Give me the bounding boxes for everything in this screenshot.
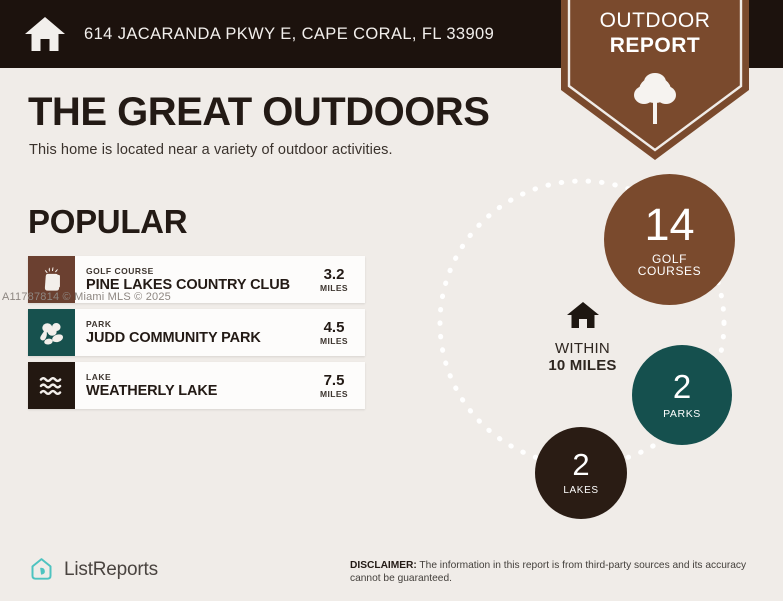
distance-value: 4.5 — [324, 320, 345, 336]
list-item-category: GOLF COURSE — [86, 266, 309, 277]
badge-title-line2: REPORT — [561, 33, 749, 58]
list-item-category: PARK — [86, 319, 309, 330]
list-item-body: GOLF COURSE PINE LAKES COUNTRY CLUB — [75, 256, 309, 303]
list-item-name: PINE LAKES COUNTRY CLUB — [86, 277, 309, 294]
listreports-house-icon — [28, 556, 55, 583]
distance-value: 3.2 — [324, 267, 345, 283]
home-icon — [24, 14, 66, 54]
golf-bag-icon — [28, 256, 75, 303]
badge-title: OUTDOOR REPORT — [561, 8, 749, 58]
bubble-label-line2: COURSES — [638, 265, 702, 277]
trees-icon — [28, 309, 75, 356]
list-item-category: LAKE — [86, 372, 309, 383]
list-item-body: LAKE WEATHERLY LAKE — [75, 362, 309, 409]
listreports-logo[interactable]: ListReports — [28, 556, 158, 583]
disclaimer-label: DISCLAIMER: — [350, 560, 417, 571]
bubble-count: 2 — [572, 449, 589, 480]
badge-title-line1: OUTDOOR — [561, 8, 749, 33]
center-line1: WITHIN — [515, 340, 650, 357]
list-item-distance: 7.5 MILES — [309, 362, 365, 409]
popular-list: GOLF COURSE PINE LAKES COUNTRY CLUB 3.2 … — [28, 256, 365, 415]
page-subtitle: This home is located near a variety of o… — [29, 142, 393, 158]
bubble-label-line1: PARKS — [663, 408, 701, 420]
outdoor-report-badge: OUTDOOR REPORT — [561, 0, 749, 160]
bubble-label-line1: LAKES — [563, 485, 598, 497]
list-item-name: WEATHERLY LAKE — [86, 383, 309, 400]
bubble-count: 14 — [644, 202, 694, 247]
list-item[interactable]: GOLF COURSE PINE LAKES COUNTRY CLUB 3.2 … — [28, 256, 365, 303]
within-10-miles-diagram: 14 GOLF COURSES 2 PARKS 2 LAKES WITHIN 1… — [415, 165, 783, 525]
section-title-popular: POPULAR — [28, 203, 187, 241]
diagram-center: WITHIN 10 MILES — [515, 300, 650, 374]
list-item[interactable]: PARK JUDD COMMUNITY PARK 4.5 MILES — [28, 309, 365, 356]
list-item-distance: 4.5 MILES — [309, 309, 365, 356]
distance-unit: MILES — [320, 336, 348, 346]
waves-icon — [28, 362, 75, 409]
center-line2: 10 MILES — [515, 357, 650, 374]
list-item-distance: 3.2 MILES — [309, 256, 365, 303]
distance-value: 7.5 — [324, 373, 345, 389]
bubble-golf-courses: 14 GOLF COURSES — [604, 174, 735, 305]
bubble-count: 2 — [673, 370, 691, 403]
disclaimer: DISCLAIMER: The information in this repo… — [350, 559, 754, 585]
distance-unit: MILES — [320, 283, 348, 293]
list-item-body: PARK JUDD COMMUNITY PARK — [75, 309, 309, 356]
list-item[interactable]: LAKE WEATHERLY LAKE 7.5 MILES — [28, 362, 365, 409]
property-address: 614 JACARANDA PKWY E, CAPE CORAL, FL 339… — [84, 25, 494, 44]
list-item-name: JUDD COMMUNITY PARK — [86, 330, 309, 347]
home-icon — [515, 300, 650, 335]
outdoor-report-page: 614 JACARANDA PKWY E, CAPE CORAL, FL 339… — [0, 0, 783, 601]
distance-unit: MILES — [320, 389, 348, 399]
listreports-logo-text: ListReports — [64, 559, 158, 581]
page-title: THE GREAT OUTDOORS — [28, 90, 489, 135]
bubble-lakes: 2 LAKES — [535, 427, 627, 519]
